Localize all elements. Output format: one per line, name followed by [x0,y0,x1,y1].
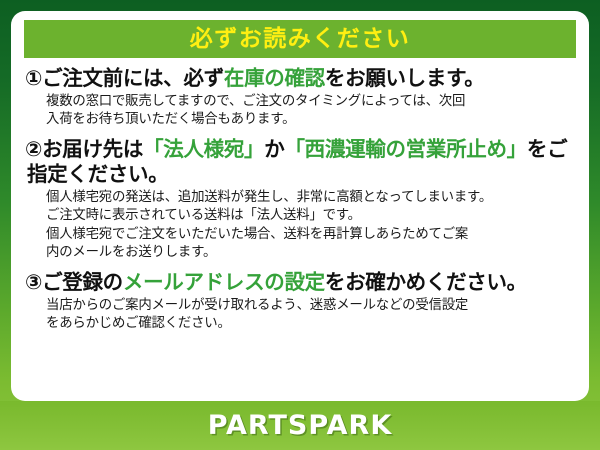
title-banner-text: 必ずお読みください [190,28,411,51]
heading-text: をお確かめください。 [325,270,527,294]
notice-item: ①ご注文前には、必ず在庫の確認をお願いします。複数の窓口で販売してますので、ご注… [27,66,573,130]
heading-text: ご登録の [42,270,123,294]
heading-text: か [264,137,284,161]
notice-body-line: 複数の窓口で販売してますので、ご注文のタイミングによっては、次回 [46,93,573,112]
notice-item-body: 当店からのご案内メールが受け取れるよう、迷惑メールなどの受信設定をあらかじめご確… [46,297,573,334]
notice-item-body: 個人様宅宛の発送は、追加送料が発生し、非常に高額となってしまいます。ご注文時に表… [46,189,573,263]
notice-item-body: 複数の窓口で販売してますので、ご注文のタイミングによっては、次回入荷をお待ち頂い… [46,93,573,130]
notice-canvas: 必ずお読みください ①ご注文前には、必ず在庫の確認をお願いします。複数の窓口で販… [0,0,600,450]
heading-text: お届け先は [42,137,143,161]
notice-item-heading: ①ご注文前には、必ず在庫の確認をお願いします。 [27,66,573,92]
notice-items-list: ①ご注文前には、必ず在庫の確認をお願いします。複数の窓口で販売してますので、ご注… [24,66,576,334]
notice-body-line: 内のメールをお送りします。 [46,244,573,263]
notice-item: ②お届け先は「法人様宛」か「西濃運輸の営業所止め」をご指定ください。個人様宅宛の… [27,137,573,263]
notice-card: 必ずお読みください ①ご注文前には、必ず在庫の確認をお願いします。複数の窓口で販… [11,11,589,401]
heading-highlight: 在庫の確認 [224,66,325,90]
notice-body-line: をあらかじめご確認ください。 [46,315,573,334]
notice-body-line: 個人様宅宛の発送は、追加送料が発生し、非常に高額となってしまいます。 [46,189,573,208]
notice-item: ③ご登録のメールアドレスの設定をお確かめください。当店からのご案内メールが受け取… [27,270,573,334]
notice-item-number: ② [25,137,42,161]
title-banner: 必ずお読みください [24,20,576,58]
notice-body-line: 入荷をお待ち頂いただく場合もあります。 [46,111,573,130]
heading-highlight: 「西濃運輸の営業所止め」 [284,137,526,161]
heading-text: ご注文前には、必ず [42,66,224,90]
heading-highlight: メールアドレスの設定 [123,270,325,294]
notice-body-line: 個人様宅宛でご注文をいただいた場合、送料を再計算しあらためてご案 [46,226,573,245]
notice-item-heading: ②お届け先は「法人様宛」か「西濃運輸の営業所止め」をご指定ください。 [27,137,573,188]
notice-body-line: ご注文時に表示されている送料は「法人送料」です。 [46,207,573,226]
brand-name: PARTSPARK [208,412,393,439]
notice-body-line: 当店からのご案内メールが受け取れるよう、迷惑メールなどの受信設定 [46,297,573,316]
heading-text: をお願いします。 [325,66,485,90]
notice-item-number: ① [25,66,42,90]
heading-highlight: 「法人様宛」 [143,137,264,161]
notice-item-number: ③ [25,270,42,294]
brand-footer: PARTSPARK [0,401,600,450]
notice-item-heading: ③ご登録のメールアドレスの設定をお確かめください。 [27,270,573,296]
